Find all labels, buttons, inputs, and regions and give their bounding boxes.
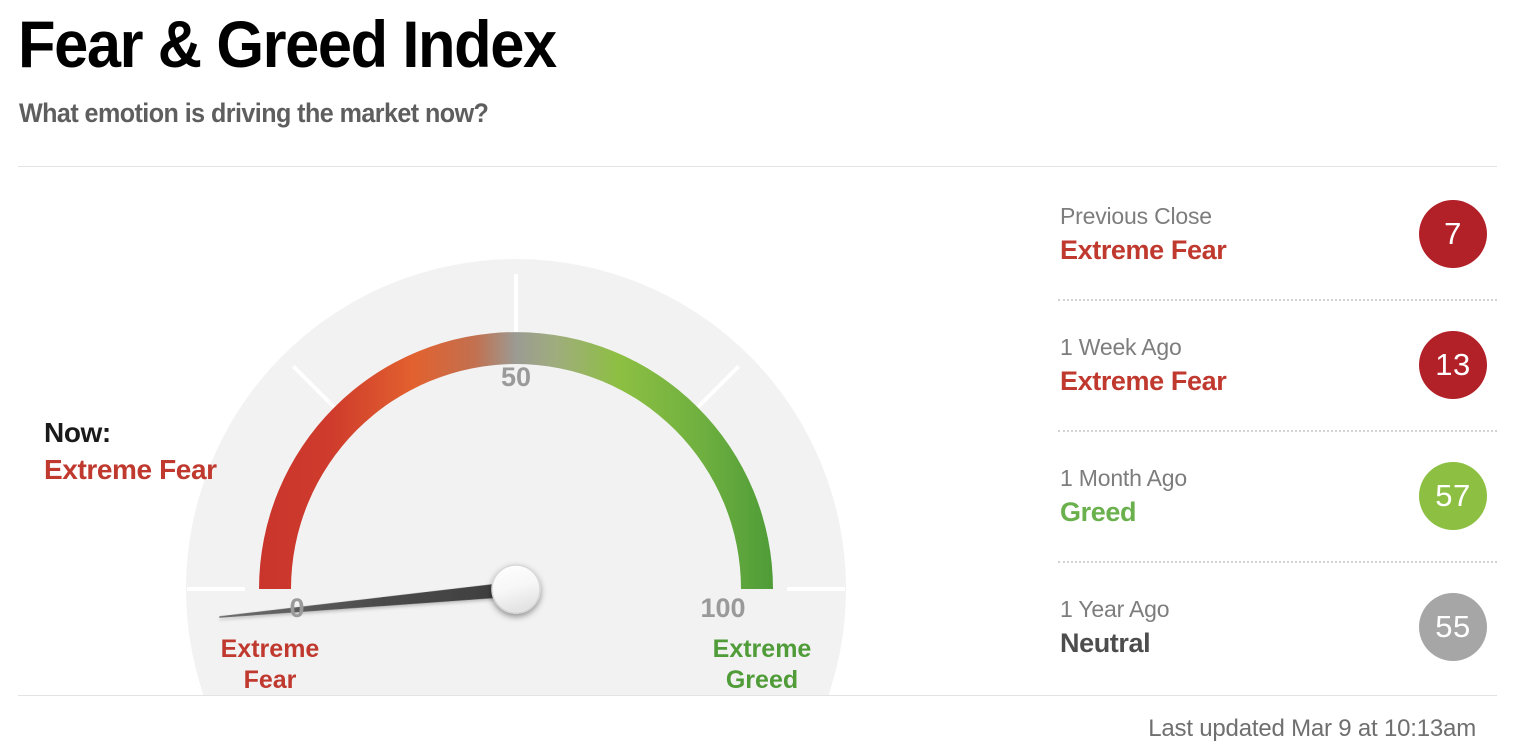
gauge-left-zone-label-line2: Fear — [244, 666, 297, 694]
history-text: Previous Close Extreme Fear — [1058, 201, 1226, 267]
header-divider — [18, 166, 1497, 167]
history-row-previous-close[interactable]: Previous Close Extreme Fear 7 — [1058, 168, 1497, 299]
history-label: 1 Month Ago — [1060, 463, 1187, 493]
history-value: Extreme Fear — [1060, 364, 1226, 398]
history-value: Extreme Fear — [1060, 233, 1226, 267]
history-panel: Previous Close Extreme Fear 7 1 Week Ago… — [1058, 168, 1497, 695]
now-label: Now: — [44, 414, 244, 451]
history-text: 1 Week Ago Extreme Fear — [1058, 332, 1226, 398]
history-row-one-month-ago[interactable]: 1 Month Ago Greed 57 — [1058, 430, 1497, 561]
gauge-tick-label-0: 0 — [289, 593, 304, 623]
gauge-left-zone-label-line1: Extreme — [221, 635, 320, 663]
history-row-one-year-ago[interactable]: 1 Year Ago Neutral 55 — [1058, 561, 1497, 692]
gauge-tick-label-50: 50 — [501, 362, 531, 392]
gauge-tick-label-100: 100 — [700, 593, 745, 623]
fear-greed-gauge: 0 50 100 Extreme Fear Extreme Greed Now:… — [0, 168, 1010, 695]
last-updated-text: Last updated Mar 9 at 10:13am — [1148, 714, 1476, 744]
history-label: 1 Year Ago — [1060, 594, 1169, 624]
footer-divider — [18, 695, 1497, 696]
history-score-badge: 7 — [1419, 200, 1487, 268]
history-label: 1 Week Ago — [1060, 332, 1226, 362]
history-row-one-week-ago[interactable]: 1 Week Ago Extreme Fear 13 — [1058, 299, 1497, 430]
gauge-needle-hub — [492, 565, 540, 613]
gauge-right-zone-label-line1: Extreme — [713, 635, 812, 663]
now-reading: Now: Extreme Fear — [44, 414, 244, 488]
history-value: Neutral — [1060, 626, 1169, 660]
history-label: Previous Close — [1060, 201, 1226, 231]
history-text: 1 Year Ago Neutral — [1058, 594, 1169, 660]
page-footer: Last updated Mar 9 at 10:13am — [18, 695, 1497, 756]
history-score-badge: 13 — [1419, 331, 1487, 399]
page-title: Fear & Greed Index — [18, 8, 556, 80]
history-score-badge: 57 — [1419, 462, 1487, 530]
history-value: Greed — [1060, 495, 1187, 529]
page-subtitle: What emotion is driving the market now? — [19, 96, 488, 130]
main-content: 0 50 100 Extreme Fear Extreme Greed Now:… — [0, 168, 1513, 695]
now-value: Extreme Fear — [44, 451, 244, 488]
page-header: Fear & Greed Index What emotion is drivi… — [18, 0, 1497, 168]
gauge-right-zone-label-line2: Greed — [726, 666, 798, 694]
history-text: 1 Month Ago Greed — [1058, 463, 1187, 529]
history-score-badge: 55 — [1419, 593, 1487, 661]
